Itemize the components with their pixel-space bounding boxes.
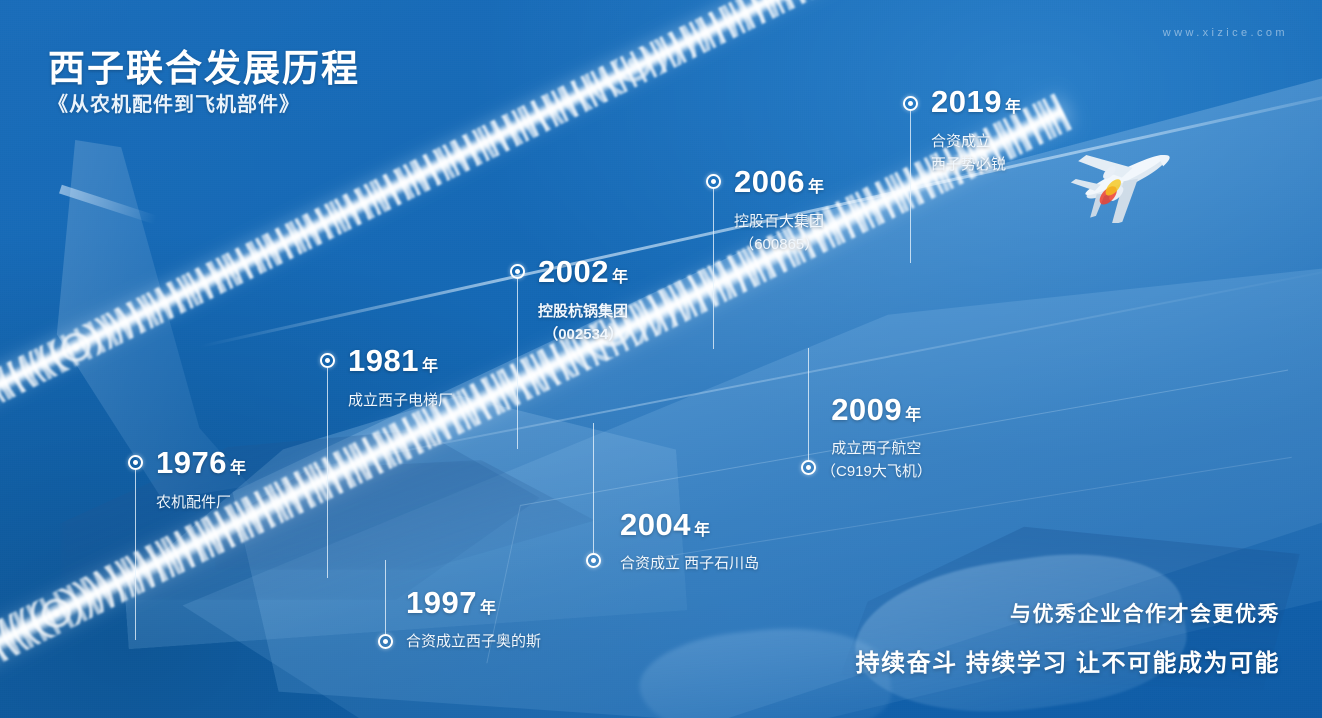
milestone-year: 1997年 [406, 587, 541, 618]
slogan-line-1: 与优秀企业合作才会更优秀 [1010, 598, 1280, 628]
ring-dot-icon [903, 96, 918, 111]
milestone-year-unit: 年 [230, 460, 247, 477]
milestone-desc-line-2: （002534） [538, 324, 628, 347]
milestone-year: 2019年 [931, 86, 1021, 117]
milestone-year-number: 1976 [156, 445, 227, 480]
milestone-desc-line-1: 控股百大集团 [734, 211, 824, 234]
milestone-desc-line-1: 农机配件厂 [156, 492, 246, 515]
milestone-desc-line-2: （C919大飞机） [821, 461, 932, 484]
milestone-year-unit: 年 [694, 522, 711, 539]
slogan-line-2: 持续奋斗 持续学习 让不可能成为可能 [856, 643, 1280, 678]
milestone-stem [593, 423, 594, 553]
milestone-year: 2006年 [734, 166, 824, 197]
milestone-year-unit: 年 [808, 179, 825, 196]
milestone-desc-line-2: 西子势必锐 [931, 154, 1021, 177]
milestone-stem [910, 111, 911, 263]
milestone-desc-line-1: 合资成立西子奥的斯 [406, 631, 541, 654]
milestone-desc-line-1: 合资成立 西子石川岛 [620, 553, 759, 576]
milestone-desc-line-1: 合资成立 [931, 131, 1021, 154]
milestone-year-number: 1981 [348, 343, 419, 378]
infographic-canvas: 1976年 农机配件厂 1981年 成立西子电梯厂 1997年 合资成立西子奥的… [0, 0, 1322, 718]
milestone-year-unit: 年 [612, 269, 629, 286]
milestone-year-number: 2019 [931, 84, 1002, 119]
milestone-desc-line-2: （600865） [734, 234, 824, 257]
ring-dot-icon [320, 353, 335, 368]
milestone-desc-line-1: 成立西子航空 [821, 438, 932, 461]
ring-dot-icon [128, 455, 143, 470]
milestone-stem [713, 189, 714, 349]
milestone-year-unit: 年 [480, 600, 497, 617]
milestone-year: 2004年 [620, 509, 759, 540]
milestone-year: 2009年 [821, 394, 932, 425]
milestone-year-number: 2004 [620, 507, 691, 542]
milestone-year-unit: 年 [905, 407, 922, 424]
milestone-desc-line-1: 成立西子电梯厂 [348, 390, 453, 413]
milestone-stem [327, 368, 328, 578]
ring-dot-icon [801, 460, 816, 475]
milestone-year-number: 1997 [406, 585, 477, 620]
ring-dot-icon [706, 174, 721, 189]
milestone-year-number: 2002 [538, 254, 609, 289]
milestone-year-unit: 年 [1005, 99, 1022, 116]
milestone-stem [135, 470, 136, 640]
airplane-icon [1065, 128, 1185, 223]
milestone-year: 1976年 [156, 447, 246, 478]
watermark: www.xizice.com [1163, 27, 1288, 39]
milestone-stem [808, 348, 809, 460]
ring-dot-icon [378, 634, 393, 649]
milestone-year: 2002年 [538, 256, 628, 287]
milestone-year: 1981年 [348, 345, 453, 376]
milestone-year-number: 2009 [831, 392, 902, 427]
page-title: 西子联合发展历程 [48, 38, 360, 92]
ring-dot-icon [586, 553, 601, 568]
milestone-stem [517, 279, 518, 449]
milestone-year-number: 2006 [734, 164, 805, 199]
page-subtitle: 《从农机配件到飞机部件》 [48, 88, 300, 117]
ring-dot-icon [510, 264, 525, 279]
milestone-desc-line-1: 控股杭锅集团 [538, 301, 628, 324]
milestone-year-unit: 年 [422, 358, 439, 375]
milestone-stem [385, 560, 386, 634]
